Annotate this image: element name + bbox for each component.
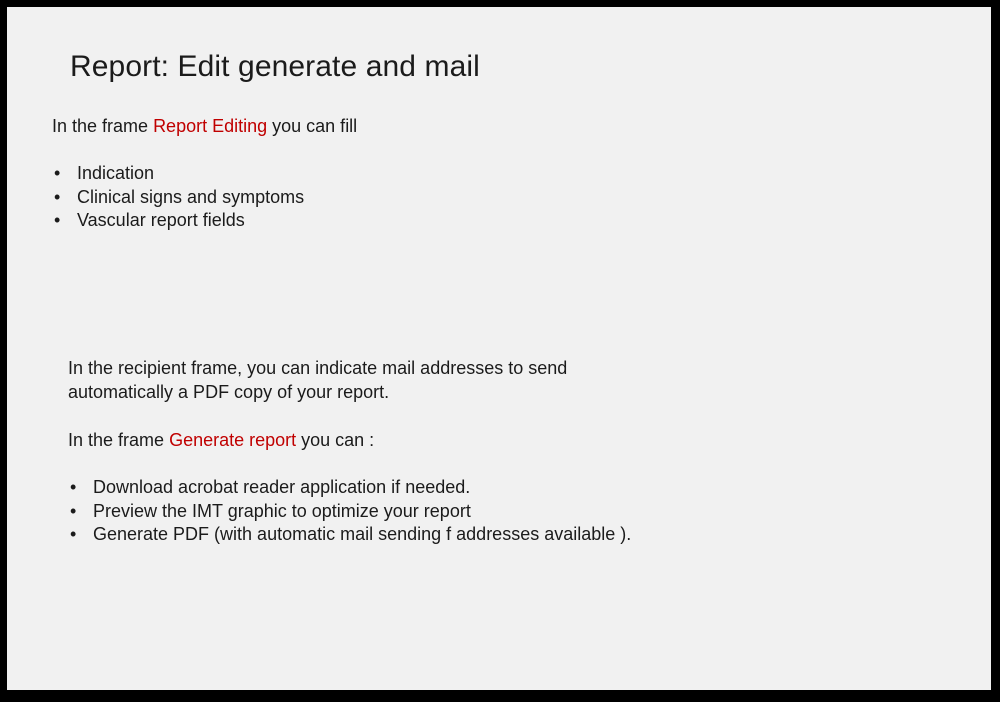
upper-lead-suffix: you can fill bbox=[267, 116, 357, 136]
list-item-label: Vascular report fields bbox=[77, 210, 245, 230]
report-editing-accent-text: Report Editing bbox=[153, 116, 267, 136]
spacer bbox=[68, 452, 768, 476]
list-item: • Clinical signs and symptoms bbox=[52, 186, 732, 210]
upper-bullet-list: • Indication • Clinical signs and sympto… bbox=[52, 162, 732, 233]
page-title: Report: Edit generate and mail bbox=[70, 49, 480, 86]
bullet-icon: • bbox=[54, 186, 60, 210]
bullet-icon: • bbox=[70, 500, 76, 524]
bullet-icon: • bbox=[54, 162, 60, 186]
lower-bullet-list: • Download acrobat reader application if… bbox=[68, 476, 768, 547]
upper-lead-prefix: In the frame bbox=[52, 116, 153, 136]
spacer bbox=[68, 404, 768, 428]
spacer bbox=[52, 138, 732, 162]
slide-frame: Report: Edit generate and mail In the fr… bbox=[0, 0, 1000, 702]
list-item: • Generate PDF (with automatic mail send… bbox=[68, 523, 768, 547]
lower-content-block: In the recipient frame, you can indicate… bbox=[68, 356, 768, 547]
upper-lead-paragraph: In the frame Report Editing you can fill bbox=[52, 114, 732, 138]
generate-report-accent-text: Generate report bbox=[169, 430, 296, 450]
upper-content-block: In the frame Report Editing you can fill… bbox=[52, 114, 732, 233]
list-item: • Preview the IMT graphic to optimize yo… bbox=[68, 500, 768, 524]
lower-lead-suffix: you can : bbox=[296, 430, 374, 450]
list-item-label: Download acrobat reader application if n… bbox=[93, 477, 470, 497]
list-item-label: Clinical signs and symptoms bbox=[77, 187, 304, 207]
bullet-icon: • bbox=[70, 523, 76, 547]
lower-lead-prefix: In the frame bbox=[68, 430, 169, 450]
list-item-label: Preview the IMT graphic to optimize your… bbox=[93, 501, 471, 521]
recipient-paragraph-line-1: In the recipient frame, you can indicate… bbox=[68, 358, 567, 378]
recipient-paragraph-line-2: automatically a PDF copy of your report. bbox=[68, 382, 389, 402]
slide-canvas: Report: Edit generate and mail In the fr… bbox=[7, 7, 991, 690]
list-item-label: Generate PDF (with automatic mail sendin… bbox=[93, 524, 631, 544]
bullet-icon: • bbox=[70, 476, 76, 500]
list-item: • Vascular report fields bbox=[52, 209, 732, 233]
list-item: • Download acrobat reader application if… bbox=[68, 476, 768, 500]
recipient-frame-paragraph: In the recipient frame, you can indicate… bbox=[68, 356, 768, 404]
lower-lead-paragraph: In the frame Generate report you can : bbox=[68, 428, 768, 452]
list-item: • Indication bbox=[52, 162, 732, 186]
list-item-label: Indication bbox=[77, 163, 154, 183]
bullet-icon: • bbox=[54, 209, 60, 233]
